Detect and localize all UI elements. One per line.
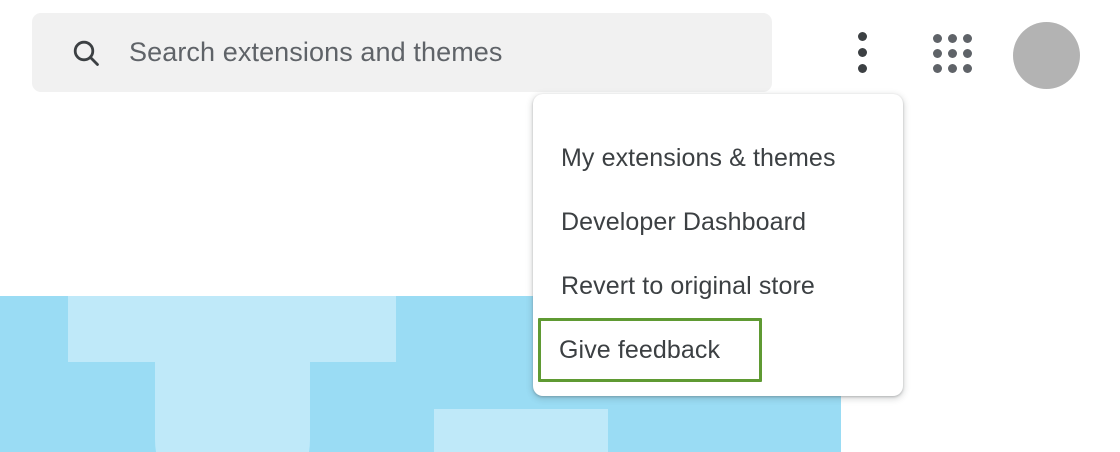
kebab-dot-2: [858, 48, 867, 57]
menu-item-label: Developer Dashboard: [561, 208, 806, 237]
kebab-dot-3: [858, 64, 867, 73]
menu-item-give-feedback[interactable]: Give feedback: [538, 318, 762, 382]
apps-dot: [963, 64, 972, 73]
menu-item-developer-dashboard[interactable]: Developer Dashboard: [535, 190, 903, 254]
apps-dot: [948, 64, 957, 73]
search-input[interactable]: [127, 36, 731, 69]
hero-decorative-rect-top: [68, 296, 396, 362]
overflow-menu: My extensions & themes Developer Dashboa…: [533, 94, 903, 396]
apps-dot: [963, 34, 972, 43]
apps-dot: [963, 49, 972, 58]
hero-decorative-halfcircle: [155, 362, 310, 452]
apps-dot: [933, 34, 942, 43]
avatar[interactable]: [1013, 22, 1080, 89]
apps-dot: [933, 49, 942, 58]
menu-item-my-extensions-and-themes[interactable]: My extensions & themes: [535, 126, 903, 190]
more-vertical-icon[interactable]: [838, 26, 886, 78]
apps-dot: [933, 64, 942, 73]
apps-dot: [948, 49, 957, 58]
menu-item-revert-to-original-store[interactable]: Revert to original store: [535, 254, 903, 318]
page-header: [0, 0, 1120, 105]
kebab-dot-1: [858, 32, 867, 41]
menu-item-label: Give feedback: [559, 336, 720, 365]
search-bar[interactable]: [32, 13, 772, 92]
apps-grid-icon[interactable]: [928, 30, 976, 76]
menu-item-label: My extensions & themes: [561, 144, 836, 173]
hero-decorative-rect-bottom: [434, 409, 608, 452]
chrome-web-store-page: Web Store My extensions & themes Develop…: [0, 0, 1120, 452]
apps-dot: [948, 34, 957, 43]
search-icon: [70, 37, 102, 69]
menu-item-label: Revert to original store: [561, 272, 815, 301]
